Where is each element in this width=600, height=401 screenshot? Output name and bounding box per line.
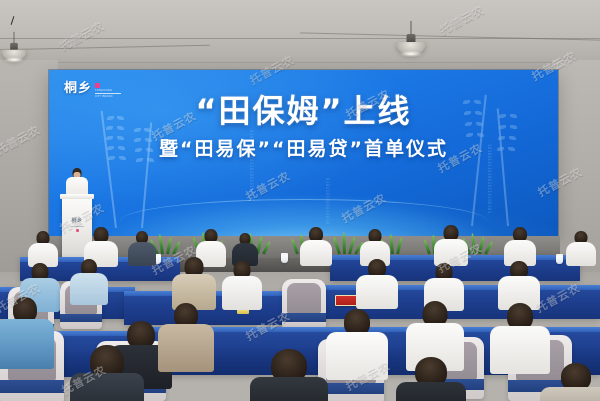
audience-person-foreground [70, 345, 144, 401]
audience-person [28, 231, 58, 265]
audience-person [0, 297, 54, 367]
podium-logo-zh: 桐乡 [70, 217, 84, 224]
led-backdrop-screen: 010110100101101001011010 101001011010010… [49, 70, 558, 237]
lamp-cord [411, 21, 412, 35]
podium-logo-rule [70, 226, 84, 227]
chair-sash [0, 380, 64, 393]
person-torso [70, 273, 108, 305]
tea-cup [281, 254, 288, 263]
audience-person [70, 259, 108, 303]
person-torso [566, 242, 596, 266]
audience-person [326, 309, 388, 375]
screen-text-block: “田保姆”上线 暨“田易保”“田易贷”首单仪式 [49, 92, 558, 162]
ceiling-seam-lower [0, 62, 600, 63]
lamp-glow [5, 57, 24, 62]
audience-person [434, 225, 468, 265]
podium-top [60, 194, 94, 199]
lamp-glow [400, 51, 422, 57]
audience-person [158, 303, 214, 369]
audience-person [172, 257, 216, 307]
ceiling-lamp-1 [396, 21, 426, 61]
tea-cup [556, 255, 563, 264]
screen-headline: “田保姆”上线 [49, 92, 558, 130]
audience-person [300, 227, 332, 265]
audience-person [356, 259, 398, 307]
audience-person [504, 227, 536, 265]
audience-person [490, 303, 550, 369]
person-torso [0, 319, 54, 369]
audience-person [222, 261, 262, 307]
podium-logo-dot-icon [76, 229, 79, 232]
audience-area [0, 245, 600, 401]
audience-person [498, 261, 540, 309]
person-torso [326, 332, 388, 380]
person-torso [128, 242, 156, 266]
person-torso [540, 387, 600, 401]
screen-subline: 暨“田易保”“田易贷”首单仪式 [49, 136, 558, 162]
person-torso [434, 239, 468, 266]
audience-person-foreground [250, 349, 328, 401]
ceiling-lamp-2 [3, 32, 25, 64]
person-torso [396, 382, 466, 401]
audience-person [128, 231, 156, 265]
audience-person-foreground [540, 363, 600, 401]
chair [282, 279, 326, 329]
podium-logo: 桐乡 [70, 217, 84, 232]
screen-logo-dot-icon [95, 83, 100, 88]
chair-sash [60, 314, 102, 323]
chair-back-panel [287, 283, 320, 314]
chair-sash [282, 313, 326, 322]
audience-person [566, 231, 596, 265]
audience-person-foreground [396, 357, 466, 401]
person-torso [222, 276, 262, 310]
person-torso [300, 240, 332, 266]
conference-photo-scene: 010110100101101001011010 101001011010010… [0, 0, 600, 401]
person-torso [158, 324, 214, 372]
person-torso [250, 377, 328, 401]
person-torso [70, 373, 144, 401]
person-torso [356, 275, 398, 309]
